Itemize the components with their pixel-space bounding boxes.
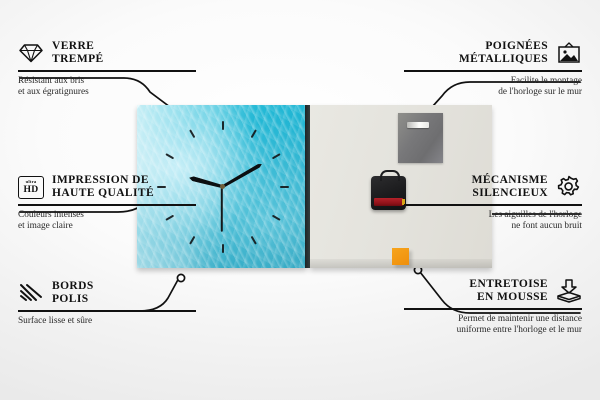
diamond-icon xyxy=(18,40,44,66)
press-down-foam-icon xyxy=(556,278,582,304)
divider xyxy=(18,310,196,312)
clock-tick xyxy=(280,186,289,188)
clock-tick xyxy=(189,129,195,138)
feature-subtitle: Facilite le montage de l'horloge sur le … xyxy=(404,76,582,98)
clock-tick xyxy=(222,121,224,130)
polished-edge-icon xyxy=(18,280,44,306)
feature-bords-polis: BORDS POLIS Surface lisse et sûre xyxy=(18,280,196,327)
feature-mecanisme-silencieux: MÉCANISME SILENCIEUX Les aiguilles de l'… xyxy=(404,174,582,232)
feature-title: POIGNÉES MÉTALLIQUES xyxy=(459,40,548,65)
picture-frame-hanger-icon xyxy=(556,40,582,66)
clock-tick xyxy=(272,153,281,159)
infographic-canvas: VERRE TREMPÉ Résistant aux bris et aux é… xyxy=(0,0,600,400)
clock-mechanism xyxy=(371,176,406,210)
feature-subtitle: Permet de maintenir une distance uniform… xyxy=(404,314,582,336)
clock-tick xyxy=(251,235,257,244)
clock-tick xyxy=(165,153,174,159)
feature-title: IMPRESSION DE HAUTE QUALITÉ xyxy=(52,174,154,199)
feature-subtitle: Résistant aux bris et aux égratignures xyxy=(18,76,196,98)
feature-subtitle: Couleurs intenses et image claire xyxy=(18,210,196,232)
divider xyxy=(404,308,582,310)
clock-second-hand xyxy=(221,187,223,232)
clock-tick xyxy=(251,129,257,138)
feature-title: ENTRETOISE EN MOUSSE xyxy=(469,278,548,303)
metal-hanger-bracket xyxy=(398,113,443,163)
gear-icon xyxy=(556,174,582,200)
divider xyxy=(18,204,196,206)
foam-spacer xyxy=(392,248,409,265)
feature-entretoise-en-mousse: ENTRETOISE EN MOUSSE Permet de maintenir… xyxy=(404,278,582,336)
divider xyxy=(18,70,196,72)
divider xyxy=(404,204,582,206)
battery xyxy=(374,198,403,206)
clock-minute-hand xyxy=(221,162,263,188)
clock-tick xyxy=(272,214,281,220)
feature-subtitle: Surface lisse et sûre xyxy=(18,316,196,327)
clock-tick xyxy=(222,244,224,253)
hanging-loop xyxy=(380,170,400,181)
divider xyxy=(404,70,582,72)
feature-verre-trempe: VERRE TREMPÉ Résistant aux bris et aux é… xyxy=(18,40,196,98)
ultra-hd-icon: ultra HD xyxy=(18,174,44,200)
feature-title: VERRE TREMPÉ xyxy=(52,40,104,65)
feature-subtitle: Les aiguilles de l'horloge ne font aucun… xyxy=(404,210,582,232)
feature-title: MÉCANISME SILENCIEUX xyxy=(472,174,548,199)
clock-center-cap xyxy=(220,184,225,189)
feature-poignees-metalliques: POIGNÉES MÉTALLIQUES Facilite le montage… xyxy=(404,40,582,98)
clock-tick xyxy=(189,235,195,244)
feature-impression-haute-qualite: ultra HD IMPRESSION DE HAUTE QUALITÉ Cou… xyxy=(18,174,196,232)
feature-title: BORDS POLIS xyxy=(52,280,94,305)
ultra-hd-bottom-label: HD xyxy=(24,185,39,195)
